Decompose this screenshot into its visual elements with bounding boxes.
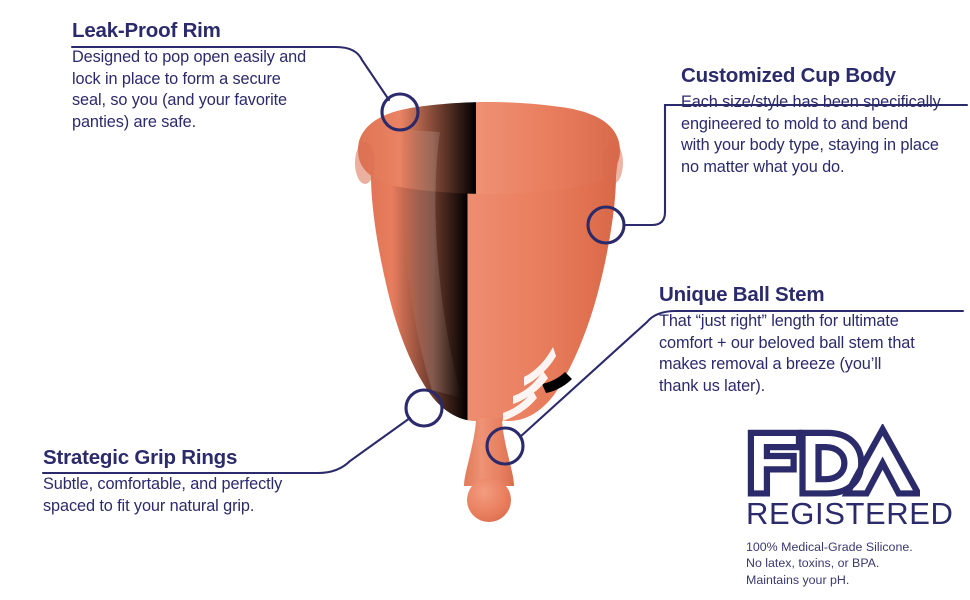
callout-line: That “just right” length for ultimate <box>659 311 959 333</box>
callout-line: Designed to pop open easily and <box>72 47 372 69</box>
fineprint-line: 100% Medical-Grade Silicone. <box>746 539 942 555</box>
fda-logo-icon <box>742 424 920 497</box>
callout-title-unique-ball-stem: Unique Ball Stem <box>659 284 959 307</box>
callout-strategic-grip-rings: Strategic Grip Rings Subtle, comfortable… <box>43 447 363 517</box>
callout-line: seal, so you (and your favorite <box>72 90 372 112</box>
fda-registered-label: REGISTERED <box>746 498 942 529</box>
cup-rim-shape <box>358 102 620 194</box>
callout-line: thank us later). <box>659 376 959 398</box>
fda-fineprint: 100% Medical-Grade Silicone. No latex, t… <box>746 539 942 588</box>
callout-body-customized-cup-body: Each size/style has been specifically en… <box>681 92 967 179</box>
callout-unique-ball-stem: Unique Ball Stem That “just right” lengt… <box>659 284 959 398</box>
marker-strategic-grip-rings <box>406 390 442 426</box>
callout-line: engineered to mold to and bend <box>681 114 967 136</box>
callout-customized-cup-body: Customized Cup Body Each size/style has … <box>681 65 967 179</box>
callout-line: comfort + our beloved ball stem that <box>659 333 959 355</box>
callout-title-leak-proof-rim: Leak-Proof Rim <box>72 20 372 43</box>
callout-line: spaced to fit your natural grip. <box>43 496 363 518</box>
callout-title-strategic-grip-rings: Strategic Grip Rings <box>43 447 363 470</box>
callout-leak-proof-rim: Leak-Proof Rim Designed to pop open easi… <box>72 20 372 134</box>
infographic-stage: Leak-Proof Rim Designed to pop open easi… <box>0 0 970 600</box>
callout-line: panties) are safe. <box>72 112 372 134</box>
fda-registered-badge: REGISTERED 100% Medical-Grade Silicone. … <box>742 424 942 588</box>
callout-title-customized-cup-body: Customized Cup Body <box>681 65 967 88</box>
callout-body-unique-ball-stem: That “just right” length for ultimate co… <box>659 311 959 398</box>
cup-ball-tip <box>467 478 511 522</box>
fineprint-line: Maintains your pH. <box>746 572 942 588</box>
callout-body-leak-proof-rim: Designed to pop open easily and lock in … <box>72 47 372 134</box>
callout-line: Each size/style has been specifically <box>681 92 967 114</box>
callout-line: Subtle, comfortable, and perfectly <box>43 474 363 496</box>
callout-line: makes removal a breeze (you’ll <box>659 354 959 376</box>
callout-line: no matter what you do. <box>681 157 967 179</box>
callout-line: with your body type, staying in place <box>681 135 967 157</box>
fineprint-line: No latex, toxins, or BPA. <box>746 555 942 571</box>
callout-body-strategic-grip-rings: Subtle, comfortable, and perfectly space… <box>43 474 363 517</box>
callout-line: lock in place to form a secure <box>72 69 372 91</box>
